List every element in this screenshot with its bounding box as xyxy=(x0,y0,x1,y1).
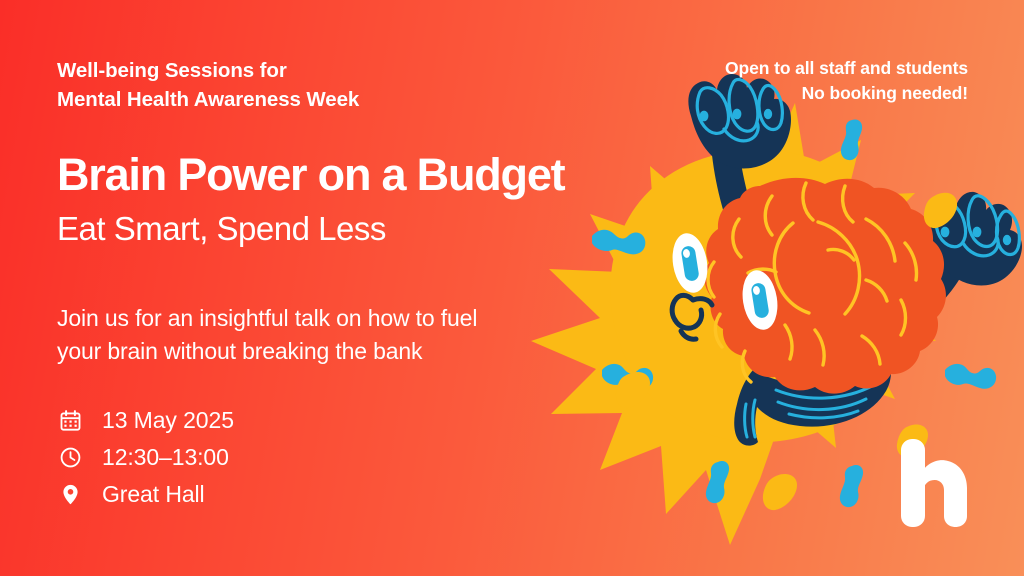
event-date: 13 May 2025 xyxy=(102,409,234,432)
event-time: 12:30–13:00 xyxy=(102,446,229,469)
knuckle-dot-6 xyxy=(1003,235,1011,245)
eyebrow-line-1: Well-being Sessions for xyxy=(57,56,359,85)
knuckle-dot-2 xyxy=(733,109,742,120)
description-line-2: your brain without breaking the bank xyxy=(57,335,477,368)
event-location: Great Hall xyxy=(102,483,205,506)
availability-note: Open to all staff and students No bookin… xyxy=(725,56,968,107)
knuckle-dot-4 xyxy=(941,227,950,238)
knuckle-dot-5 xyxy=(973,227,982,238)
calendar-icon xyxy=(58,409,82,433)
knuckle-dot-1 xyxy=(700,111,709,122)
eyebrow-line-2: Mental Health Awareness Week xyxy=(57,85,359,114)
page-title: Brain Power on a Budget xyxy=(57,152,564,197)
banner-text-column: Well-being Sessions for Mental Health Aw… xyxy=(57,0,677,576)
brand-logo xyxy=(897,437,969,534)
availability-note-line-1: Open to all staff and students xyxy=(725,56,968,81)
clock-icon xyxy=(58,446,82,470)
eyebrow-text: Well-being Sessions for Mental Health Aw… xyxy=(57,56,359,114)
squiggle-blue-6 xyxy=(840,465,863,507)
squiggle-blue-3 xyxy=(841,119,862,160)
page-subtitle: Eat Smart, Spend Less xyxy=(57,212,386,245)
accent-yellow-3 xyxy=(763,474,797,510)
event-banner: Well-being Sessions for Mental Health Aw… xyxy=(0,0,1024,576)
event-details-list: 13 May 2025 12:30–13:00 xyxy=(58,402,234,513)
knuckle-dot-3 xyxy=(764,109,772,119)
description-line-1: Join us for an insightful talk on how to… xyxy=(57,302,477,335)
event-location-row: Great Hall xyxy=(58,476,234,513)
squiggle-blue-4 xyxy=(945,364,996,389)
event-time-row: 12:30–13:00 xyxy=(58,439,234,476)
availability-note-line-2: No booking needed! xyxy=(725,81,968,106)
event-date-row: 13 May 2025 xyxy=(58,402,234,439)
description-text: Join us for an insightful talk on how to… xyxy=(57,302,477,369)
location-pin-icon xyxy=(58,483,82,507)
